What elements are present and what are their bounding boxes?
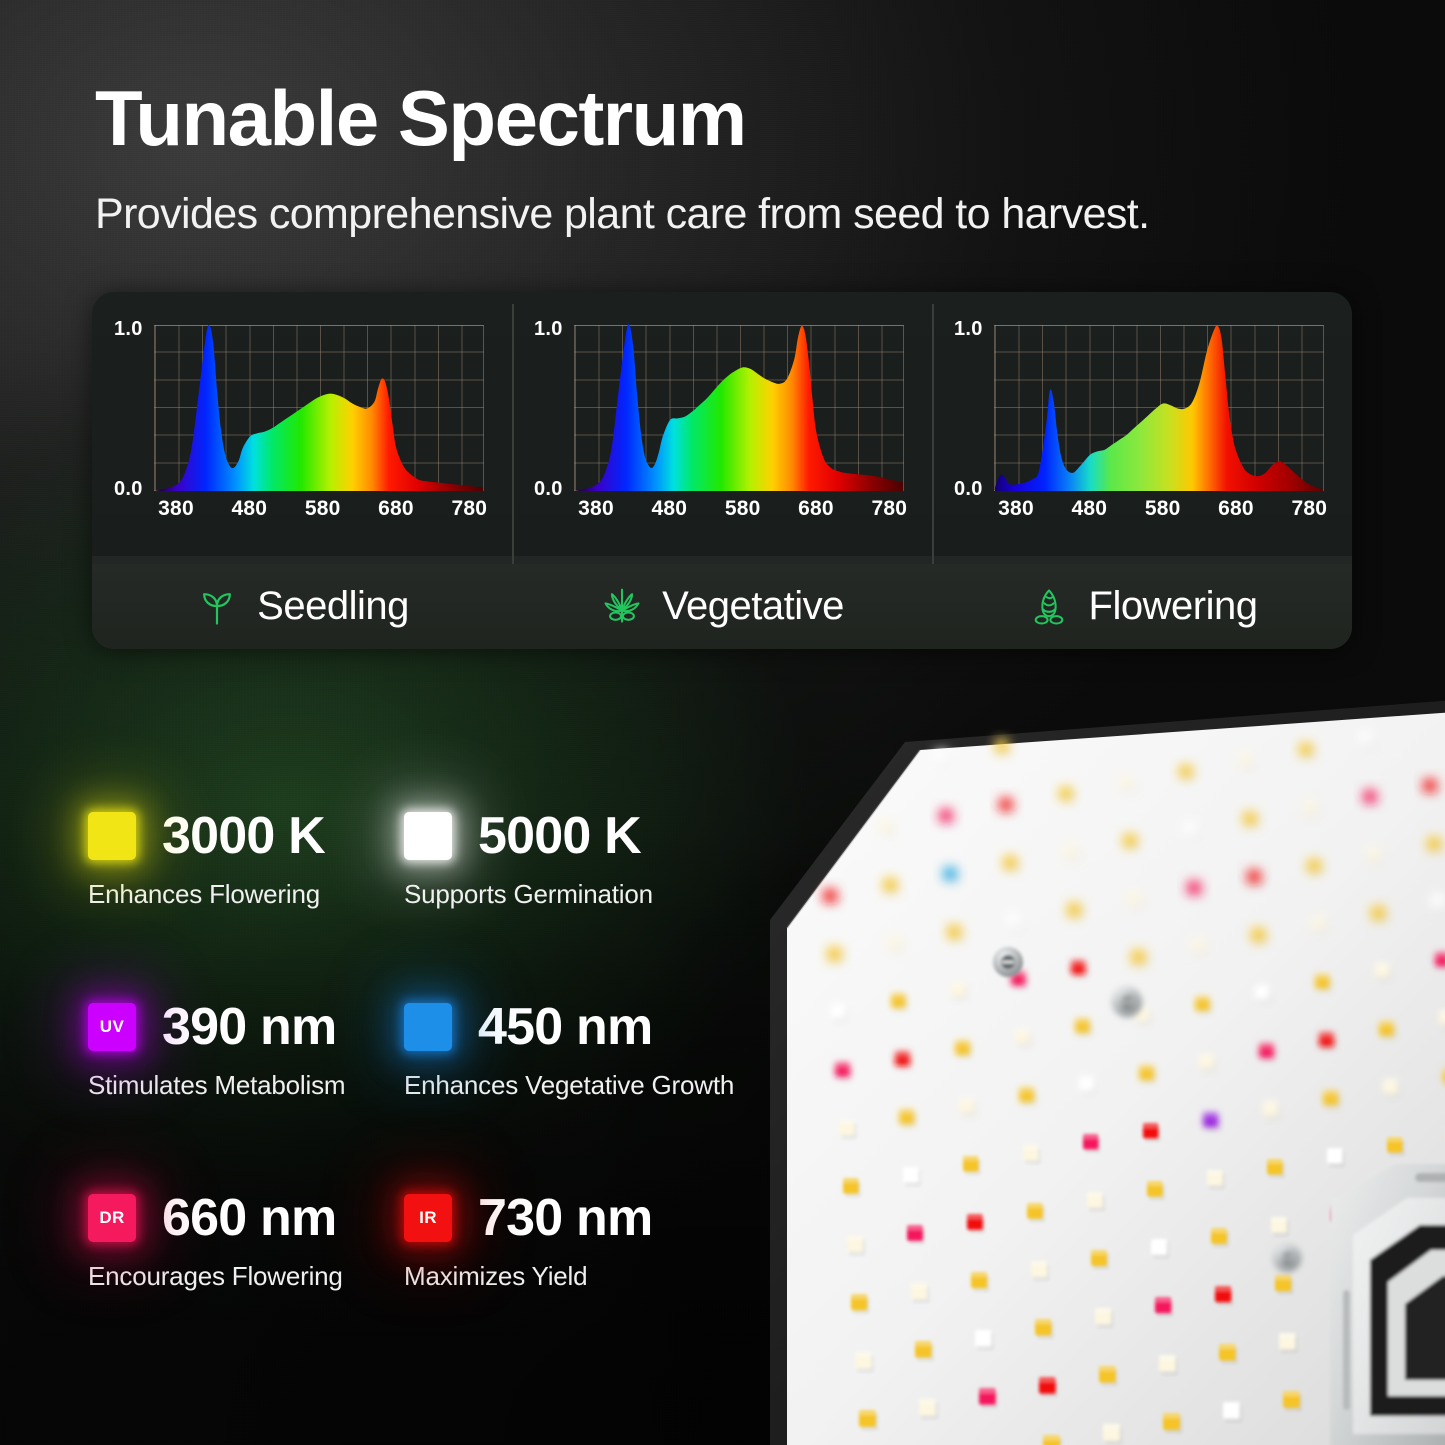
led-diode: [1371, 905, 1387, 922]
led-value-390nm: 390 nm: [162, 1001, 336, 1053]
led-diode: [887, 935, 903, 952]
led-diode: [967, 1214, 985, 1233]
header: Tunable Spectrum Provides comprehensive …: [95, 78, 1345, 239]
page-title: Tunable Spectrum: [95, 78, 1345, 160]
led-diode: [823, 888, 839, 905]
led-diode: [947, 924, 963, 941]
flower-bud-icon: [1027, 585, 1071, 629]
led-diode: [1363, 789, 1379, 806]
led-diode: [1075, 1018, 1092, 1036]
stage-item-vegetative[interactable]: Vegetative: [512, 564, 932, 649]
led-diode: [1027, 1203, 1045, 1222]
x-axis-2: 380 480 580 680 780: [994, 497, 1324, 527]
led-diode: [895, 1051, 912, 1069]
x-tick-2-4: 780: [1292, 497, 1328, 521]
led-diode: [1375, 963, 1391, 980]
led-diode: [999, 797, 1015, 814]
led-diode: [855, 1352, 873, 1371]
led-desc-450nm: Enhances Vegetative Growth: [404, 1070, 734, 1101]
led-diode: [1059, 786, 1074, 802]
plot-area-2: [994, 325, 1324, 491]
led-diode: [907, 1225, 925, 1244]
led-diode: [971, 1272, 989, 1291]
led-diode: [827, 946, 843, 963]
led-diode: [1139, 1065, 1156, 1083]
led-diode: [1187, 880, 1203, 897]
led-panel-illustration: [755, 690, 1445, 1445]
led-spec-5000k: 5000 K Supports Germination: [404, 805, 653, 910]
led-diode: [1207, 1170, 1224, 1188]
spectrum-charts-row: 1.0 0.0: [92, 292, 1352, 564]
led-diode: [1203, 1112, 1220, 1130]
led-diode: [1431, 894, 1445, 911]
led-diode: [1267, 1159, 1284, 1177]
led-diode: [939, 808, 955, 825]
led-diode: [955, 1040, 972, 1058]
led-swatch-5000k: [404, 812, 452, 860]
led-desc-730nm: Maximizes Yield: [404, 1261, 652, 1292]
led-diode: [1247, 869, 1263, 886]
led-diode: [859, 1410, 878, 1430]
x-tick-0-2: 580: [305, 497, 341, 521]
led-diode: [1039, 1377, 1058, 1397]
led-diode: [1119, 775, 1134, 791]
led-diode: [1095, 1308, 1113, 1327]
x-tick-1-3: 680: [798, 497, 834, 521]
led-diode: [831, 1004, 848, 1022]
led-swatch-3000k: [88, 812, 136, 860]
led-diode: [1091, 1250, 1109, 1269]
plot-area-0: [154, 325, 484, 491]
led-diode: [1239, 753, 1254, 769]
led-diode: [1071, 960, 1087, 977]
led-spec-row: DR 660 nm Encourages Flowering IR 730 nm…: [88, 1187, 748, 1292]
led-diode: [1319, 1032, 1336, 1050]
led-value-450nm: 450 nm: [478, 1001, 652, 1053]
led-spec-730nm: IR 730 nm Maximizes Yield: [404, 1187, 652, 1292]
y-tick-min-1: 0.0: [534, 478, 563, 501]
led-diode: [951, 982, 968, 1000]
led-diode: [1063, 844, 1079, 861]
led-value-5000k: 5000 K: [478, 810, 641, 862]
led-diode: [1427, 836, 1443, 853]
led-desc-660nm: Encourages Flowering: [88, 1261, 404, 1292]
x-tick-2-3: 680: [1218, 497, 1254, 521]
led-diode: [1327, 1148, 1344, 1166]
led-value-660nm: 660 nm: [162, 1192, 336, 1244]
led-diode: [1103, 1424, 1122, 1444]
led-diode: [1315, 974, 1331, 991]
x-tick-0-0: 380: [158, 497, 194, 521]
led-diode: [1159, 1355, 1177, 1374]
led-diode: [1251, 927, 1267, 944]
led-diode: [1043, 1435, 1062, 1445]
led-diode: [1359, 731, 1374, 747]
led-swatch-450nm: [404, 1003, 452, 1051]
y-tick-max-0: 1.0: [114, 318, 143, 341]
led-diode: [1035, 1319, 1053, 1338]
spectrum-chart-seedling: 1.0 0.0: [92, 292, 512, 564]
led-diode: [1147, 1181, 1165, 1200]
stage-item-seedling[interactable]: Seedling: [92, 564, 512, 649]
stage-item-flowering[interactable]: Flowering: [932, 564, 1352, 649]
led-diode: [1191, 938, 1207, 955]
led-diode: [891, 993, 908, 1011]
led-swatch-730nm: IR: [404, 1194, 452, 1242]
led-diode: [1015, 1029, 1032, 1047]
led-value-730nm: 730 nm: [478, 1192, 652, 1244]
led-swatch-390nm: UV: [88, 1003, 136, 1051]
led-diode: [1255, 985, 1272, 1003]
x-tick-0-3: 680: [378, 497, 414, 521]
growth-stage-bar: Seedling Vegetative: [92, 564, 1352, 649]
led-diode: [1379, 1021, 1396, 1039]
stage-label-vegetative: Vegetative: [662, 584, 844, 629]
led-diode: [1211, 1228, 1229, 1247]
x-axis-1: 380 480 580 680 780: [574, 497, 904, 527]
x-axis-0: 380 480 580 680 780: [154, 497, 484, 527]
stage-label-seedling: Seedling: [257, 584, 409, 629]
led-diode: [1199, 1054, 1216, 1072]
y-tick-max-1: 1.0: [534, 318, 563, 341]
led-diode: [911, 1283, 929, 1302]
x-tick-1-4: 780: [872, 497, 908, 521]
x-tick-2-1: 480: [1072, 497, 1108, 521]
led-diode: [1243, 811, 1259, 828]
led-diode: [1099, 1366, 1118, 1386]
led-diode: [919, 1399, 938, 1419]
led-spec-390nm: UV 390 nm Stimulates Metabolism: [88, 996, 404, 1101]
led-spec-3000k: 3000 K Enhances Flowering: [88, 805, 404, 910]
led-swatch-660nm: DR: [88, 1194, 136, 1242]
x-tick-2-0: 380: [998, 497, 1034, 521]
led-diode: [903, 1167, 920, 1185]
led-diode: [847, 1236, 865, 1255]
led-diode: [843, 1178, 861, 1197]
led-diode: [1023, 1145, 1040, 1163]
led-desc-390nm: Stimulates Metabolism: [88, 1070, 404, 1101]
x-tick-1-1: 480: [652, 497, 688, 521]
led-value-3000k: 3000 K: [162, 810, 325, 862]
led-diode: [1087, 1192, 1105, 1211]
led-diode: [995, 739, 1010, 755]
led-diode: [1271, 1217, 1289, 1236]
led-diode: [1151, 1239, 1169, 1258]
led-diode: [899, 1109, 916, 1127]
spectrum-chart-vegetative: 1.0 0.0: [512, 292, 932, 564]
led-diode: [1279, 1333, 1297, 1352]
led-diode: [1183, 822, 1199, 839]
led-diode: [1275, 1275, 1293, 1294]
led-diode: [975, 1330, 993, 1349]
y-tick-max-2: 1.0: [954, 318, 983, 341]
led-diode: [1283, 1391, 1302, 1411]
led-diode: [1299, 742, 1314, 758]
led-diode: [1003, 855, 1019, 872]
stage-label-flowering: Flowering: [1089, 584, 1258, 629]
led-desc-3000k: Enhances Flowering: [88, 879, 404, 910]
led-diode: [1307, 858, 1323, 875]
led-diode: [1079, 1076, 1096, 1094]
led-diode: [1383, 1079, 1400, 1097]
led-diode: [943, 866, 959, 883]
page-subtitle: Provides comprehensive plant care from s…: [95, 190, 1345, 239]
sprout-icon: [195, 585, 239, 629]
led-diode: [1155, 1297, 1173, 1316]
plot-area-1: [574, 325, 904, 491]
led-diode: [1323, 1090, 1340, 1108]
led-diode: [1179, 764, 1194, 780]
led-diode: [1263, 1101, 1280, 1119]
led-diode: [1215, 1286, 1233, 1305]
led-diode: [839, 1120, 856, 1138]
x-tick-1-0: 380: [578, 497, 614, 521]
led-diode: [883, 877, 899, 894]
led-diode: [1303, 800, 1319, 817]
led-diode: [963, 1156, 980, 1174]
led-diode: [1127, 891, 1143, 908]
x-tick-2-2: 580: [1145, 497, 1181, 521]
led-diode: [915, 1341, 933, 1360]
led-diode: [1123, 833, 1139, 850]
led-spec-row: UV 390 nm Stimulates Metabolism 450 nm E…: [88, 996, 748, 1101]
led-diode: [979, 1388, 998, 1408]
cannabis-leaf-icon: [600, 585, 644, 629]
led-spec-row: 3000 K Enhances Flowering 5000 K Support…: [88, 805, 748, 910]
x-tick-0-1: 480: [232, 497, 268, 521]
led-spec-450nm: 450 nm Enhances Vegetative Growth: [404, 996, 734, 1101]
led-diode: [1131, 949, 1147, 966]
led-diode: [935, 750, 950, 766]
led-desc-5000k: Supports Germination: [404, 879, 653, 910]
led-diode: [1067, 902, 1083, 919]
led-diode: [1219, 1344, 1237, 1363]
led-diode: [879, 819, 895, 836]
heatsink-housing: [1330, 1164, 1445, 1445]
led-diode: [1007, 913, 1023, 930]
led-diode: [851, 1294, 869, 1313]
led-diode: [1163, 1413, 1182, 1433]
led-diode: [835, 1062, 852, 1080]
led-diode: [1195, 996, 1212, 1014]
led-diode: [1387, 1137, 1404, 1155]
led-diode: [959, 1098, 976, 1116]
y-tick-min-2: 0.0: [954, 478, 983, 501]
led-diode: [1223, 1402, 1242, 1422]
led-diode: [1019, 1087, 1036, 1105]
led-spec-660nm: DR 660 nm Encourages Flowering: [88, 1187, 404, 1292]
led-diode: [1083, 1134, 1100, 1152]
led-diode: [1259, 1043, 1276, 1061]
led-spec-grid: 3000 K Enhances Flowering 5000 K Support…: [88, 805, 748, 1292]
spectrum-chart-flowering: 1.0 0.0: [932, 292, 1352, 564]
led-diode: [1143, 1123, 1160, 1141]
x-tick-1-2: 580: [725, 497, 761, 521]
y-tick-min-0: 0.0: [114, 478, 143, 501]
spectrum-card: 1.0 0.0: [92, 292, 1352, 649]
led-diode: [1311, 916, 1327, 933]
led-diode: [1367, 847, 1383, 864]
led-diode: [1423, 778, 1438, 794]
led-panel-photo: [755, 690, 1445, 1445]
x-tick-0-4: 780: [452, 497, 488, 521]
led-diode: [1031, 1261, 1049, 1280]
